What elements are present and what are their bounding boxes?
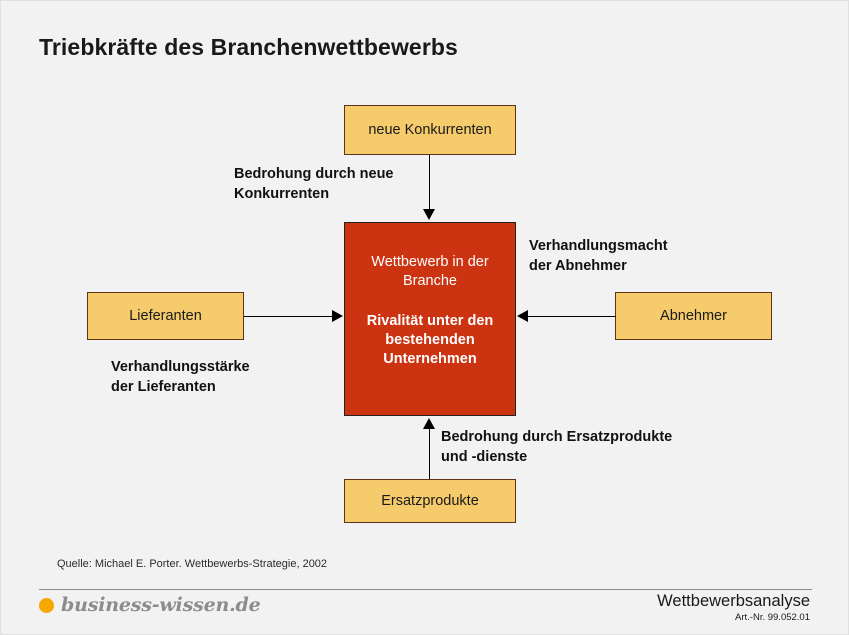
footer-divider (39, 589, 812, 590)
force-box-label: Lieferanten (129, 307, 202, 325)
footer-document-title: Wettbewerbsanalyse (657, 592, 810, 611)
force-box-label: Ersatzprodukte (381, 492, 479, 510)
brand-logo[interactable]: business-wissen.de (39, 594, 260, 616)
force-box-abnehmer[interactable]: Abnehmer (615, 292, 772, 340)
arrowhead-left-icon (517, 310, 528, 322)
source-note: Quelle: Michael E. Porter. Wettbewerbs-S… (57, 558, 327, 570)
arrowhead-down-icon (423, 209, 435, 220)
footer-meta: Wettbewerbsanalyse Art.-Nr. 99.052.01 (657, 592, 810, 623)
force-box-label: Abnehmer (660, 307, 727, 325)
arrow-label-neue-konkurrenten: Bedrohung durch neue Konkurrenten (234, 165, 394, 204)
arrow-line-bottom (429, 429, 430, 479)
slide-canvas: Triebkräfte des Branchenwettbewerbs neue… (0, 0, 849, 635)
arrow-label-ersatzprodukte: Bedrohung durch Ersatzprodukte und -dien… (441, 428, 672, 467)
core-box-heading: Wettbewerb in der Branche (345, 253, 515, 292)
force-box-neue-konkurrenten[interactable]: neue Konkurrenten (344, 105, 516, 155)
brand-logo-label: business-wissen.de (61, 594, 260, 616)
force-box-ersatzprodukte[interactable]: Ersatzprodukte (344, 479, 516, 523)
arrowhead-right-icon (332, 310, 343, 322)
force-box-lieferanten[interactable]: Lieferanten (87, 292, 244, 340)
arrowhead-up-icon (423, 418, 435, 429)
logo-dot-icon (39, 598, 54, 613)
core-box-subheading: Rivalität unter den bestehenden Unterneh… (345, 312, 515, 370)
arrow-line-right (528, 316, 616, 317)
arrow-line-top (429, 155, 430, 209)
footer-article-number: Art.-Nr. 99.052.01 (657, 612, 810, 623)
arrow-line-left (244, 316, 332, 317)
arrow-label-lieferanten: Verhandlungsstärke der Lieferanten (111, 358, 250, 397)
force-box-label: neue Konkurrenten (368, 121, 491, 139)
page-title: Triebkräfte des Branchenwettbewerbs (39, 34, 458, 61)
arrow-label-abnehmer: Verhandlungsmacht der Abnehmer (529, 237, 668, 276)
core-box-industry-rivalry[interactable]: Wettbewerb in der Branche Rivalität unte… (344, 222, 516, 416)
